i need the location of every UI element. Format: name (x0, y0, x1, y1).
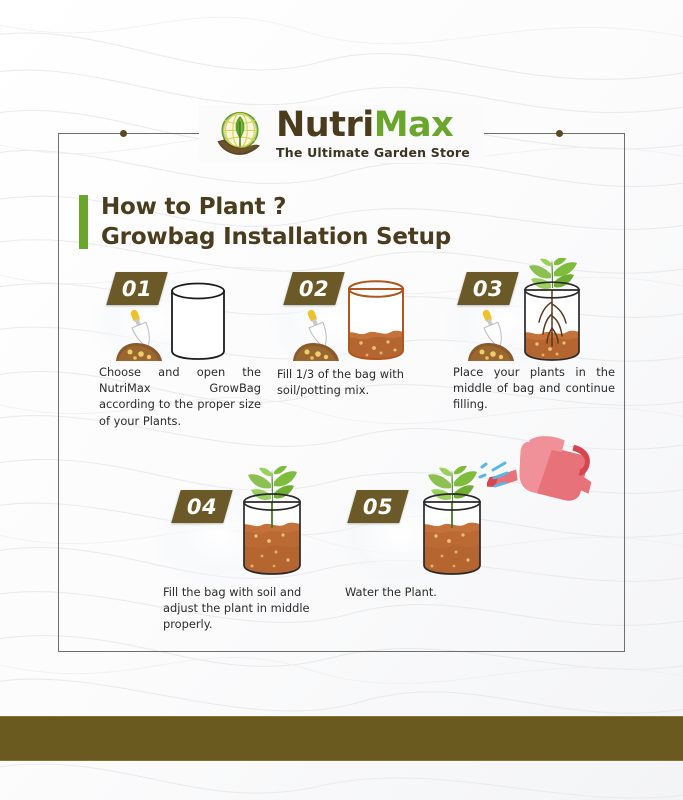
step-number-05: 05 (363, 495, 393, 519)
empty-growbag-icon (167, 282, 229, 360)
step-number-badge-05: 05 (347, 490, 408, 523)
step-number-badge-01: 01 (106, 272, 167, 305)
trowel-and-soil-02 (285, 305, 349, 363)
step-number-badge-04: 04 (171, 490, 232, 523)
step-caption-02: Fill 1/3 of the bag with soil/potting mi… (277, 366, 439, 398)
step-number-badge-02: 02 (283, 272, 344, 305)
title-line-2: Growbag Installation Setup (101, 222, 451, 252)
growbag-with-seedling-icon (515, 258, 589, 362)
step-number-01: 01 (122, 277, 152, 301)
decorative-divider-left (58, 131, 127, 136)
step-number-badge-03: 03 (457, 272, 518, 305)
step-number-03: 03 (473, 277, 503, 301)
growbag-filled-with-plant-icon-04 (232, 466, 312, 576)
page-title: How to Plant ? Growbag Installation Setu… (79, 192, 451, 253)
bottom-accent-bar (0, 716, 683, 761)
step-number-02: 02 (299, 277, 329, 301)
step-caption-05: Water the Plant. (345, 584, 520, 600)
step-caption-03: Place your plants in the middle of bag a… (453, 364, 615, 413)
trowel-and-soil-01 (108, 305, 172, 363)
step-number-04: 04 (187, 495, 217, 519)
decorative-divider-right (556, 131, 625, 136)
step-caption-04: Fill the bag with soil and adjust the pl… (163, 584, 338, 633)
title-line-1: How to Plant ? (101, 192, 451, 222)
water-droplets-icon (477, 459, 513, 493)
title-accent-bar (79, 195, 88, 249)
step-caption-01: Choose and open the NutriMax GrowBag acc… (99, 364, 261, 429)
growbag-one-third-filled-icon (343, 279, 409, 361)
